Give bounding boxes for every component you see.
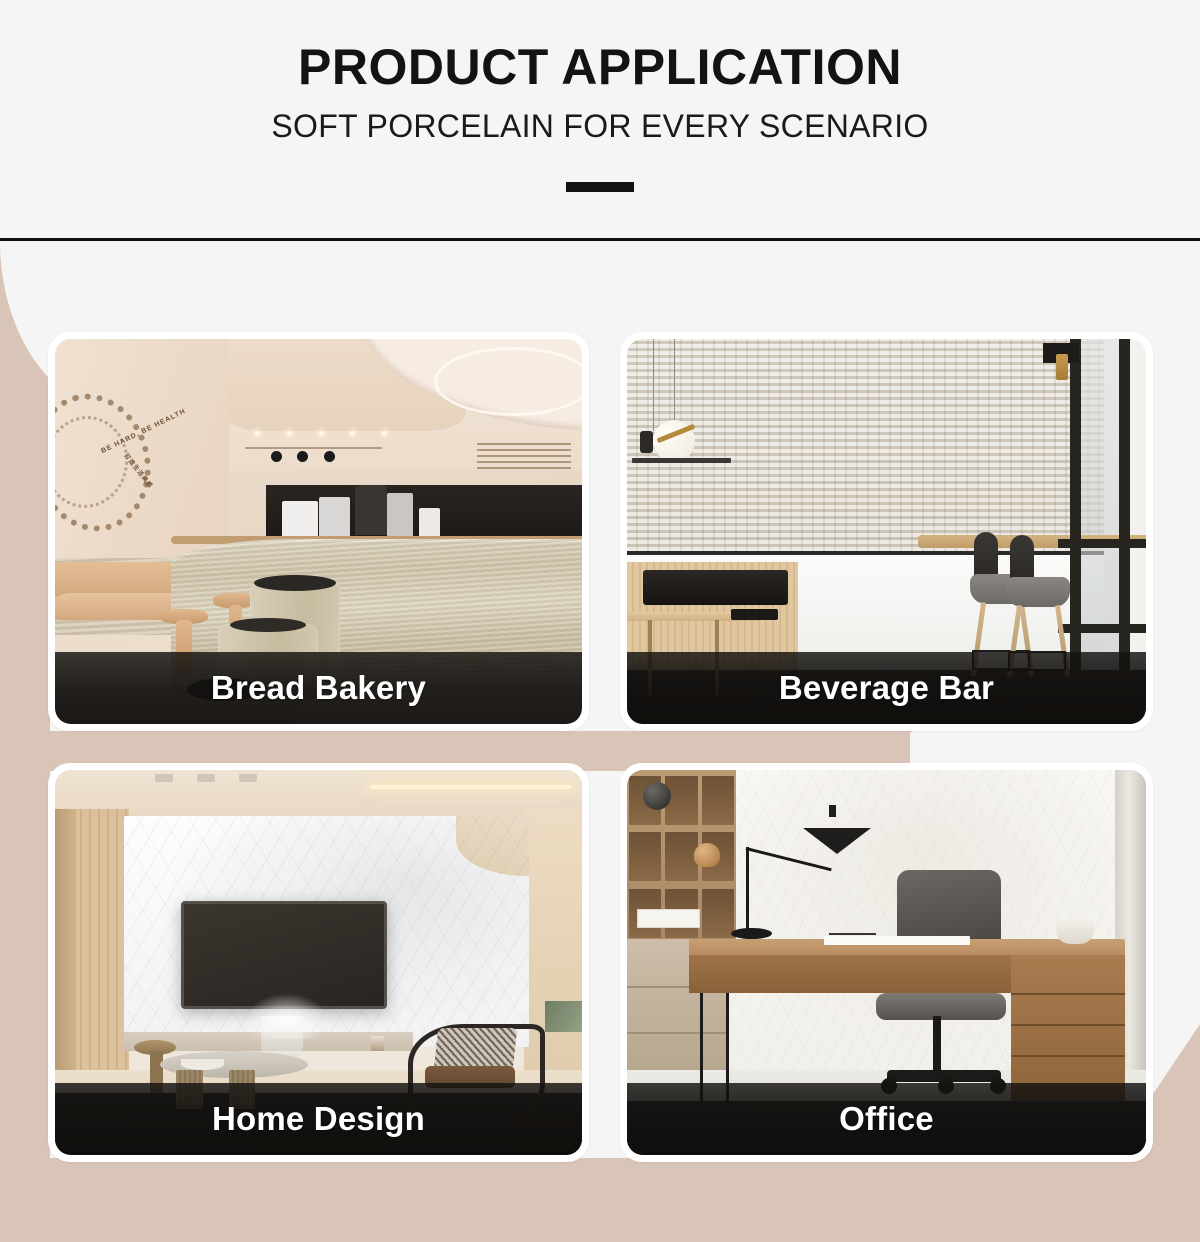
- page-title: PRODUCT APPLICATION: [0, 38, 1200, 96]
- card-label-text: Bread Bakery: [211, 669, 426, 707]
- card-photo-office: Office: [627, 770, 1146, 1155]
- application-card-office[interactable]: Office: [620, 763, 1153, 1162]
- title-underline-rule: [566, 182, 634, 192]
- card-label-text: Beverage Bar: [779, 669, 994, 707]
- card-label-bar: Office: [627, 1083, 1146, 1155]
- card-label-text: Office: [839, 1100, 934, 1138]
- card-photo-beverage-bar: Beverage Bar: [627, 339, 1146, 724]
- page-subtitle: SOFT PORCELAIN FOR EVERY SCENARIO: [0, 108, 1200, 145]
- application-card-bread-bakery[interactable]: BE HARD, BE HEALTH 打造生活美感: [48, 332, 589, 731]
- card-label-bar: Beverage Bar: [627, 652, 1146, 724]
- card-photo-bread-bakery: BE HARD, BE HEALTH 打造生活美感: [55, 339, 582, 724]
- application-card-beverage-bar[interactable]: Beverage Bar: [620, 332, 1153, 731]
- application-card-grid: BE HARD, BE HEALTH 打造生活美感: [0, 241, 1200, 1242]
- card-photo-home-design: Home Design: [55, 770, 582, 1155]
- header-divider-line: [0, 238, 1200, 241]
- application-card-home-design[interactable]: Home Design: [48, 763, 589, 1162]
- card-label-bar: Bread Bakery: [55, 652, 582, 724]
- card-label-text: Home Design: [212, 1100, 425, 1138]
- page-header: PRODUCT APPLICATION SOFT PORCELAIN FOR E…: [0, 0, 1200, 241]
- card-label-bar: Home Design: [55, 1083, 582, 1155]
